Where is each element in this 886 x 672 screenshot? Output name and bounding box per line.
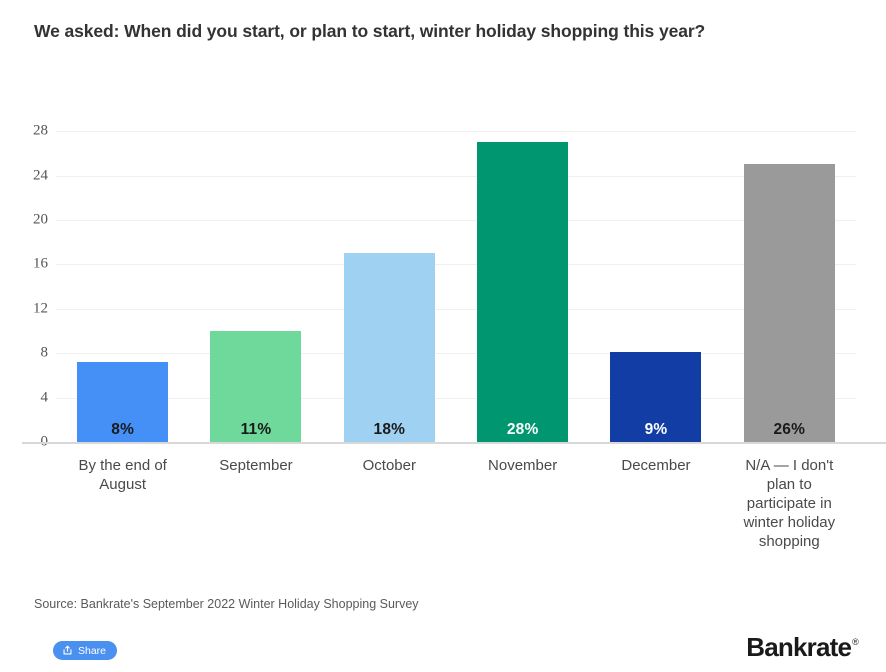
x-axis-label-slot: September bbox=[189, 456, 322, 475]
chart-title: We asked: When did you start, or plan to… bbox=[34, 20, 854, 42]
bar-value-label: 11% bbox=[241, 421, 272, 442]
registered-mark: ® bbox=[852, 638, 858, 647]
chart-card: We asked: When did you start, or plan to… bbox=[0, 0, 886, 672]
source-note: Source: Bankrate's September 2022 Winter… bbox=[34, 597, 419, 611]
x-axis-label-slot: By the end of August bbox=[56, 456, 189, 494]
y-tick-label: 20 bbox=[33, 211, 48, 228]
bar-slot: 8% bbox=[56, 120, 189, 442]
bar-value-label: 9% bbox=[645, 421, 668, 442]
x-axis-label: October bbox=[330, 456, 448, 475]
bar[interactable]: 8% bbox=[77, 362, 168, 442]
y-tick-label: 24 bbox=[33, 167, 48, 184]
x-axis-label-slot: N/A — I don't plan to participate in win… bbox=[723, 456, 856, 551]
bar-slot: 11% bbox=[189, 120, 322, 442]
x-axis-label: By the end of August bbox=[64, 456, 182, 494]
y-tick-label: 4 bbox=[41, 389, 49, 406]
y-tick-label: 28 bbox=[33, 123, 48, 140]
bar-slot: 18% bbox=[323, 120, 456, 442]
bar[interactable]: 26% bbox=[744, 164, 835, 442]
share-button[interactable]: Share bbox=[53, 641, 117, 660]
x-axis-baseline bbox=[22, 442, 886, 444]
bar-series: 8%11%18%28%9%26% bbox=[56, 120, 856, 442]
x-axis-label: N/A — I don't plan to participate in win… bbox=[730, 456, 848, 551]
x-axis-label-slot: November bbox=[456, 456, 589, 475]
bar[interactable]: 28% bbox=[477, 142, 568, 442]
bar-value-label: 26% bbox=[773, 421, 805, 442]
bar[interactable]: 18% bbox=[344, 253, 435, 442]
plot-area: 0481216202428 8%11%18%28%9%26% bbox=[0, 120, 886, 450]
bar-value-label: 8% bbox=[111, 421, 134, 442]
bar-slot: 28% bbox=[456, 120, 589, 442]
y-axis: 0481216202428 bbox=[0, 120, 56, 442]
bar-slot: 9% bbox=[589, 120, 722, 442]
share-icon bbox=[62, 645, 73, 656]
share-button-label: Share bbox=[78, 645, 106, 657]
bankrate-logo: Bankrate ® bbox=[746, 632, 858, 663]
bar-value-label: 18% bbox=[374, 421, 406, 442]
y-tick-label: 16 bbox=[33, 256, 48, 273]
bar[interactable]: 9% bbox=[610, 352, 701, 442]
x-axis-label-slot: October bbox=[323, 456, 456, 475]
bar-value-label: 28% bbox=[507, 421, 539, 442]
y-tick-label: 12 bbox=[33, 300, 48, 317]
bar[interactable]: 11% bbox=[210, 331, 301, 442]
x-axis-label: November bbox=[464, 456, 582, 475]
x-axis-label: December bbox=[597, 456, 715, 475]
bankrate-wordmark: Bankrate bbox=[746, 632, 851, 663]
y-tick-label: 8 bbox=[41, 345, 49, 362]
x-axis-labels: By the end of AugustSeptemberOctoberNove… bbox=[56, 456, 856, 551]
bar-slot: 26% bbox=[723, 120, 856, 442]
x-axis-label-slot: December bbox=[589, 456, 722, 475]
x-axis-label: September bbox=[197, 456, 315, 475]
